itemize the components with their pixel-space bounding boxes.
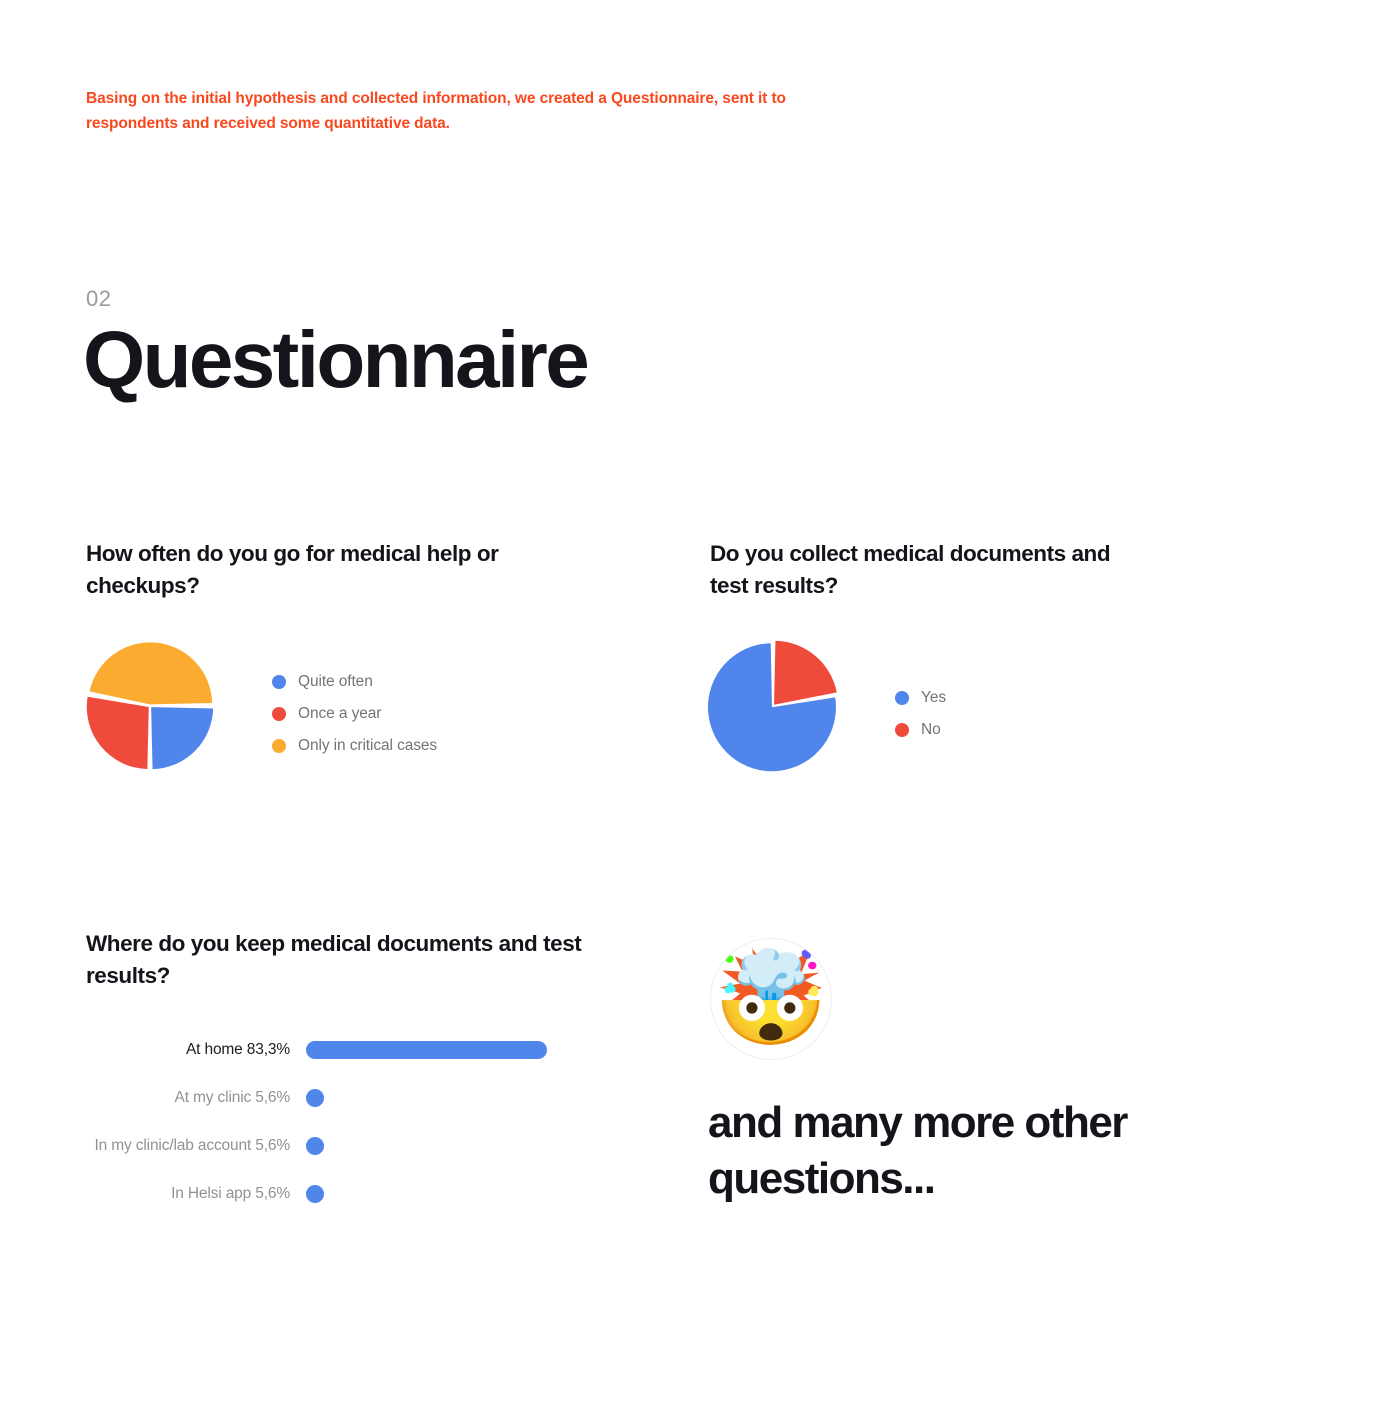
closing-line: and many more other questions... <box>708 1095 1228 1207</box>
legend-item-label: Once a year <box>298 705 381 723</box>
pie-slice <box>87 697 149 769</box>
legend-item-label: Only in critical cases <box>298 737 437 755</box>
legend-swatch-icon <box>272 739 286 753</box>
page-title: Questionnaire <box>83 318 587 402</box>
pie-chart-1 <box>86 638 216 774</box>
legend-item-label: Yes <box>921 689 946 707</box>
bar-fill <box>306 1137 324 1155</box>
legend-item: Quite often <box>272 666 437 698</box>
bar-fill <box>306 1041 547 1059</box>
question-1-title: How often do you go for medical help or … <box>86 538 516 602</box>
slide-canvas: Basing on the initial hypothesis and col… <box>0 0 1400 1408</box>
intro-paragraph: Basing on the initial hypothesis and col… <box>86 86 806 136</box>
pie-chart-2 <box>708 640 840 772</box>
pie-chart-2-graphic <box>708 640 840 772</box>
pie-chart-1-legend: Quite often Once a year Only in critical… <box>272 666 437 762</box>
bar-fill <box>306 1185 324 1203</box>
legend-swatch-icon <box>895 723 909 737</box>
section-number: 02 <box>86 286 111 312</box>
bar-chart-row: At my clinic 5,6% <box>60 1074 580 1122</box>
pie-slice <box>90 642 213 704</box>
bar-track <box>306 1185 580 1203</box>
legend-swatch-icon <box>895 691 909 705</box>
bar-chart-row: In Helsi app 5,6% <box>60 1170 580 1218</box>
pie-chart-1-graphic <box>86 638 216 774</box>
question-3-title: Where do you keep medical documents and … <box>86 928 586 992</box>
legend-swatch-icon <box>272 675 286 689</box>
legend-item-label: Quite often <box>298 673 373 691</box>
bar-row-label: In Helsi app 5,6% <box>60 1185 306 1203</box>
pie-slice <box>774 641 837 705</box>
bar-track <box>306 1089 580 1107</box>
bar-row-label: In my clinic/lab account 5,6% <box>60 1137 306 1155</box>
legend-item: Yes <box>895 682 946 714</box>
bar-chart-row: At home 83,3% <box>60 1026 580 1074</box>
legend-item: No <box>895 714 946 746</box>
pie-chart-2-legend: Yes No <box>895 682 946 746</box>
legend-swatch-icon <box>272 707 286 721</box>
exploding-head-memoji-icon: 🤯 <box>714 953 829 1045</box>
pie-slice <box>151 707 213 769</box>
bar-row-label: At home 83,3% <box>60 1041 306 1059</box>
bar-track <box>306 1137 580 1155</box>
bar-row-label: At my clinic 5,6% <box>60 1089 306 1107</box>
bar-chart-row: In my clinic/lab account 5,6% <box>60 1122 580 1170</box>
bar-chart: At home 83,3% At my clinic 5,6% In my cl… <box>60 1026 580 1218</box>
bar-track <box>306 1041 580 1059</box>
legend-item: Only in critical cases <box>272 730 437 762</box>
question-2-title: Do you collect medical documents and tes… <box>710 538 1150 602</box>
avatar: 🤯 <box>710 938 832 1060</box>
legend-item: Once a year <box>272 698 437 730</box>
bar-fill <box>306 1089 324 1107</box>
legend-item-label: No <box>921 721 941 739</box>
